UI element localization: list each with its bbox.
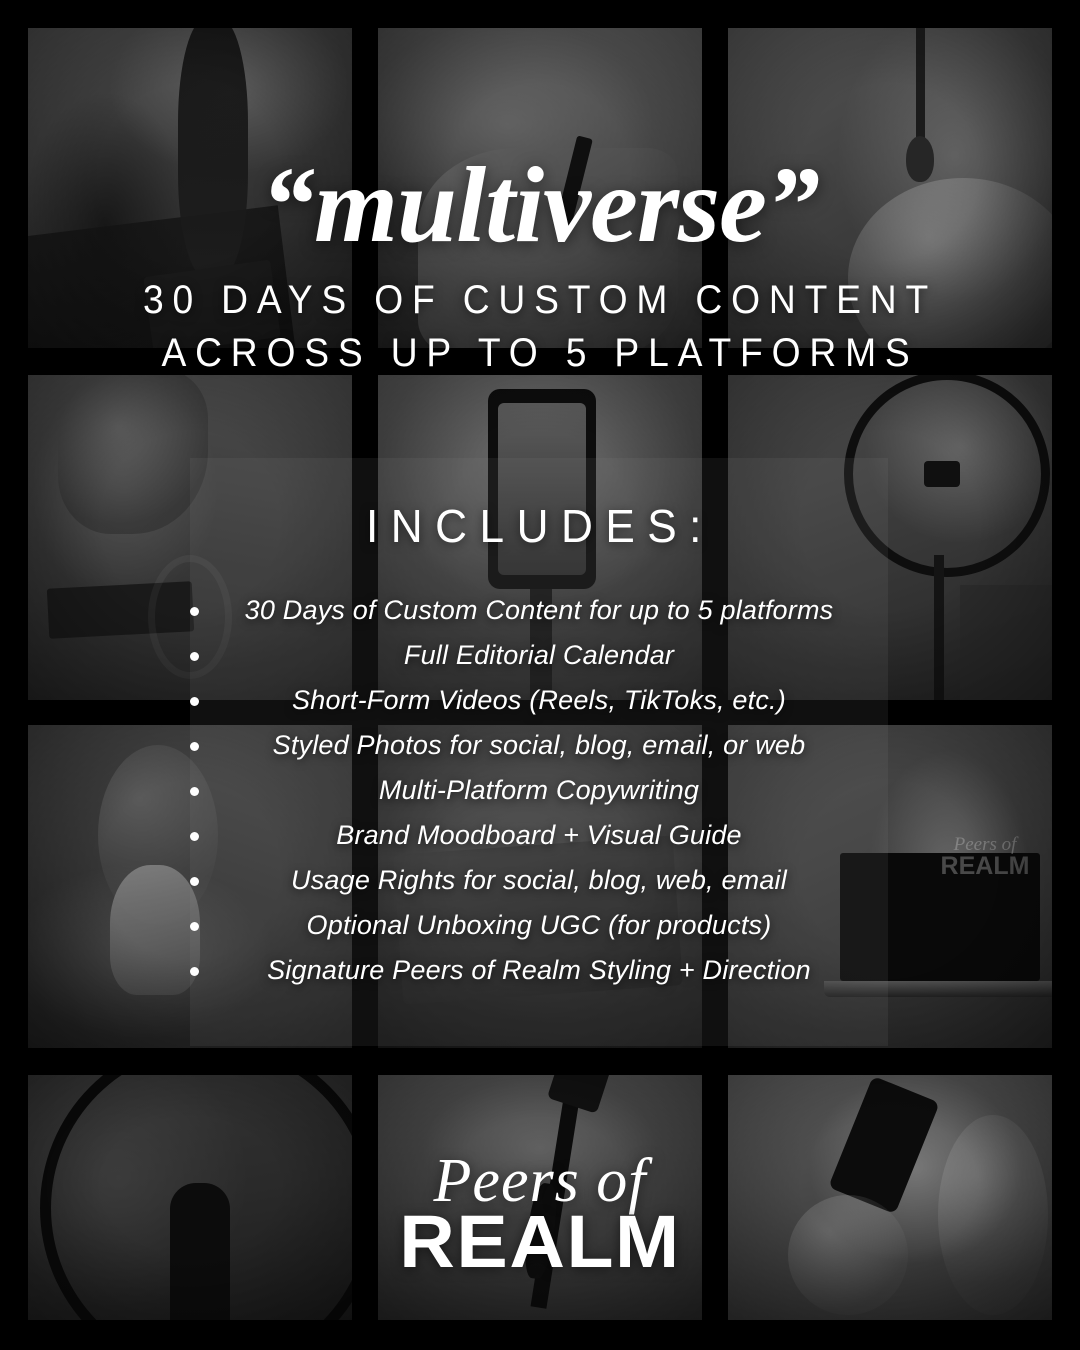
photo-vignette (728, 1075, 1052, 1320)
list-item: Styled Photos for social, blog, email, o… (186, 723, 892, 768)
brand-logo: Peers of REALM (379, 1152, 701, 1276)
list-item-label: Short-Form Videos (Reels, TikToks, etc.) (186, 686, 892, 716)
subtitle-line-1: 30 DAYS OF CUSTOM CONTENT (38, 274, 1042, 327)
photo-vignette (28, 1075, 352, 1320)
list-item: Full Editorial Calendar (186, 633, 892, 678)
bullet-dot-icon (190, 697, 199, 706)
bullet-dot-icon (190, 922, 199, 931)
list-item: Signature Peers of Realm Styling + Direc… (186, 948, 892, 993)
gallery-tile-hand-applying-lipstick (728, 1075, 1052, 1320)
bullet-dot-icon (190, 787, 199, 796)
list-item-label: Styled Photos for social, blog, email, o… (186, 731, 892, 761)
includes-heading: INCLUDES: (22, 499, 1059, 553)
list-item: Multi-Platform Copywriting (186, 768, 892, 813)
bullet-dot-icon (190, 652, 199, 661)
gallery-tile-photographer-in-round-mirror (28, 1075, 352, 1320)
bullet-dot-icon (190, 742, 199, 751)
list-item: Brand Moodboard + Visual Guide (186, 813, 892, 858)
list-item-label: Optional Unboxing UGC (for products) (186, 911, 892, 941)
headline-block: “multiverse” 30 DAYS OF CUSTOM CONTENT A… (0, 152, 1080, 380)
list-item: 30 Days of Custom Content for up to 5 pl… (186, 588, 892, 633)
list-item-label: Brand Moodboard + Visual Guide (186, 821, 892, 851)
list-item-label: Usage Rights for social, blog, web, emai… (186, 866, 892, 896)
page-title: “multiverse” (0, 152, 1080, 260)
subtitle-line-2: ACROSS UP TO 5 PLATFORMS (38, 327, 1042, 380)
list-item-label: Signature Peers of Realm Styling + Direc… (186, 956, 892, 986)
list-item-label: 30 Days of Custom Content for up to 5 pl… (186, 596, 892, 626)
list-item-label: Full Editorial Calendar (186, 641, 892, 671)
logo-word-text: REALM (373, 1208, 708, 1276)
list-item: Optional Unboxing UGC (for products) (186, 903, 892, 948)
bullet-dot-icon (190, 877, 199, 886)
bullet-dot-icon (190, 967, 199, 976)
bullet-dot-icon (190, 607, 199, 616)
includes-list: 30 Days of Custom Content for up to 5 pl… (186, 588, 892, 993)
bullet-dot-icon (190, 832, 199, 841)
poster-canvas: Peers of REALM “multiverse” 30 DAYS OF C… (0, 0, 1080, 1350)
list-item-label: Multi-Platform Copywriting (186, 776, 892, 806)
list-item: Short-Form Videos (Reels, TikToks, etc.) (186, 678, 892, 723)
list-item: Usage Rights for social, blog, web, emai… (186, 858, 892, 903)
